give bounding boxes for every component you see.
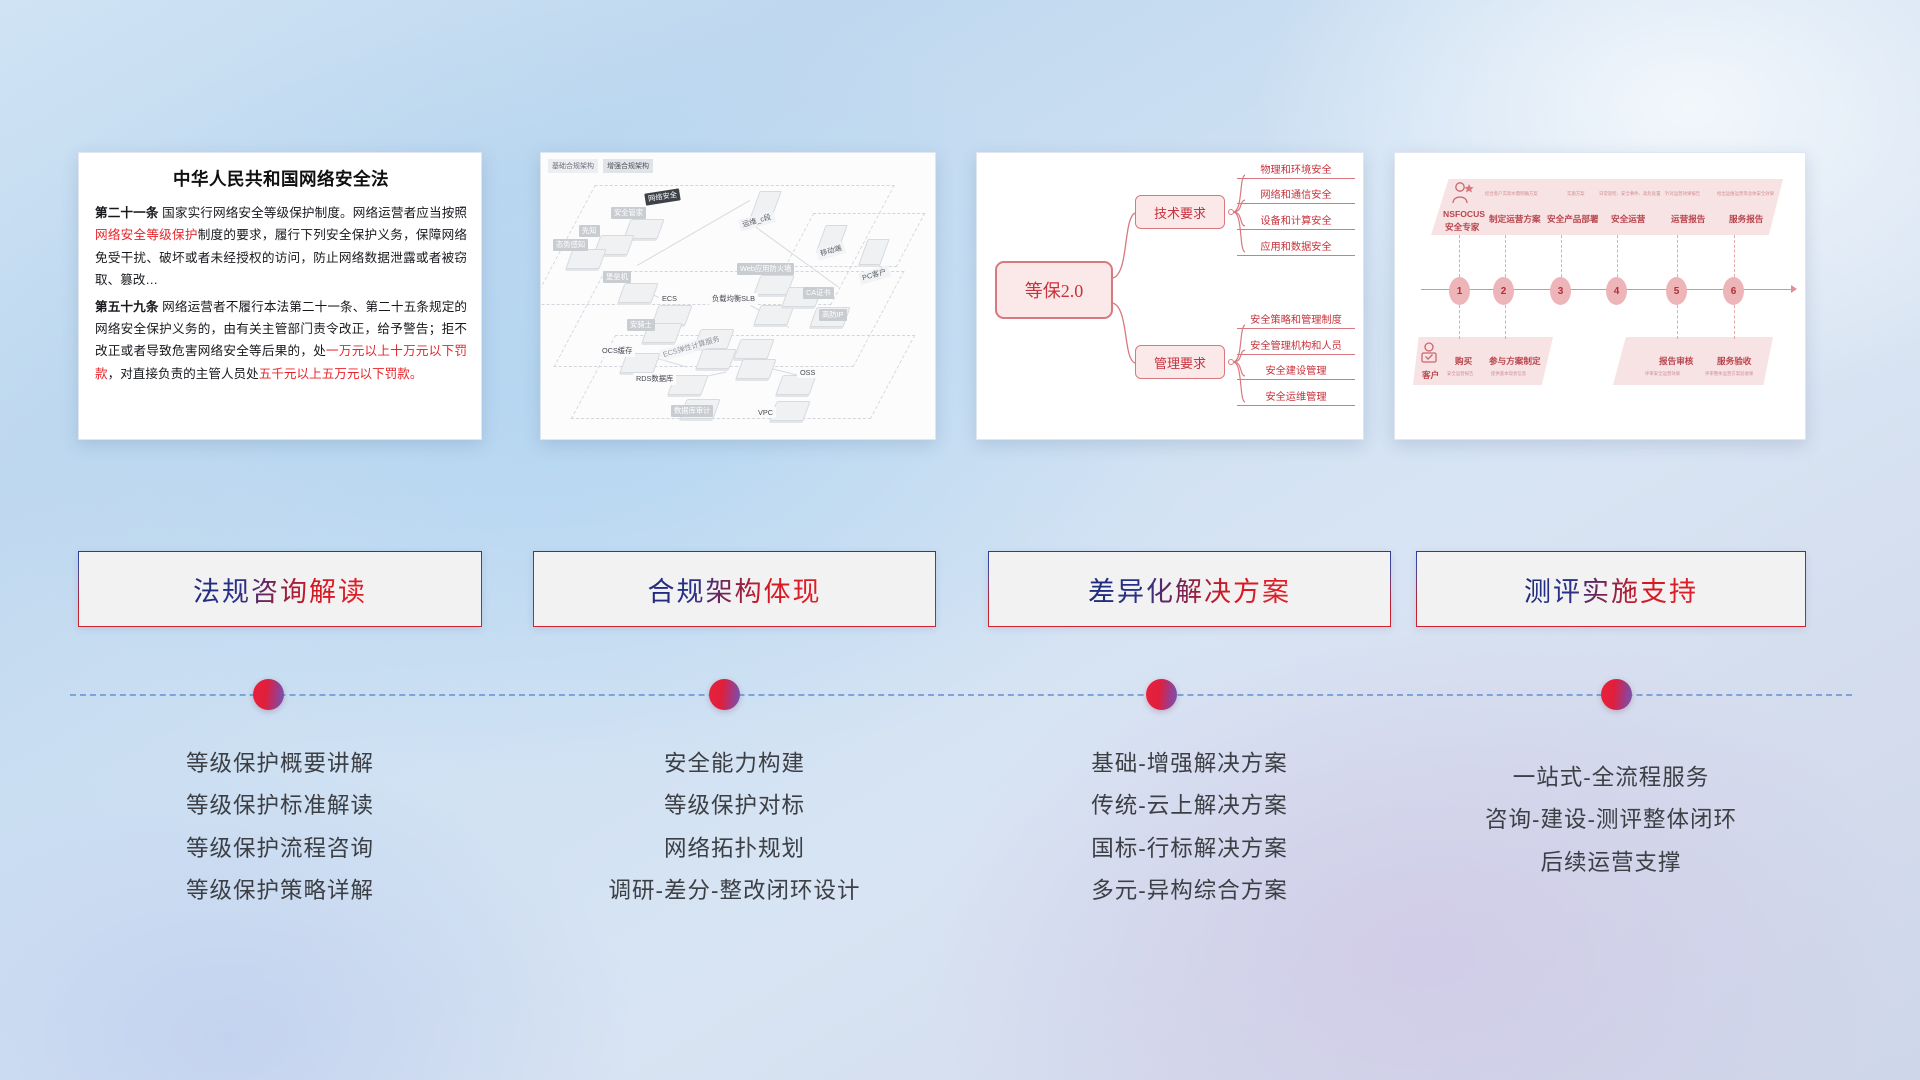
roadmap-step-2: 2 <box>1493 277 1514 305</box>
roadmap-dash-b3 <box>1677 305 1678 339</box>
roadmap-top-sub-5: 给出运维运营等总体安全效果 <box>1717 191 1774 197</box>
list-item: 传统-云上解决方案 <box>988 785 1391 827</box>
arch-label-rds: RDS数据库 <box>633 373 676 385</box>
mindmap-leaf-tech-1: 物理和环境安全 <box>1237 161 1355 179</box>
mindmap-leaf-tech-4: 应用和数据安全 <box>1237 238 1355 256</box>
roadmap-provider-name-1: NSFOCUS <box>1443 209 1485 219</box>
timeline-dot-4[interactable] <box>1601 679 1632 710</box>
roadmap-top-title-1: 制定运营方案 <box>1489 213 1541 225</box>
list-item: 等级保护流程咨询 <box>78 828 482 870</box>
roadmap-dash-1 <box>1459 235 1460 277</box>
mindmap-leaf-mgmt-2: 安全管理机构和人员 <box>1237 337 1355 355</box>
list-item: 多元-异构综合方案 <box>988 870 1391 912</box>
law-run-2-3: ，对直接负责的主管人员处 <box>108 367 259 381</box>
mindmap-branch-management: 管理要求 <box>1135 345 1225 379</box>
roadmap-customer-name: 客户 <box>1422 369 1439 381</box>
roadmap-bot-title-2: 参与方案制定 <box>1489 355 1541 367</box>
arch-label-ocs: OCS缓存 <box>599 345 635 357</box>
arch-label-slb: 负载均衡SLB <box>709 293 758 305</box>
list-item: 网络拓扑规划 <box>533 828 936 870</box>
mindmap-card: 等保2.0 技术要求 管理要求 物理和环境安全 网络和通信安全 设备和计算安全 … <box>976 152 1364 440</box>
list-item: 后续运营支撑 <box>1416 842 1806 884</box>
mindmap-diagram: 等保2.0 技术要求 管理要求 物理和环境安全 网络和通信安全 设备和计算安全 … <box>977 153 1363 439</box>
law-run-1-2: 网络安全等级保护 <box>95 228 198 242</box>
law-paragraph-1: 第二十一条 国家实行网络安全等级保护制度。网络运营者应当按照网络安全等级保护制度… <box>95 202 467 292</box>
roadmap-band-provider <box>1431 179 1783 235</box>
headline-box-2[interactable]: 合规架构体现 <box>533 551 936 627</box>
roadmap-provider-name-2: 安全专家 <box>1445 221 1479 233</box>
roadmap-bot-sub-4: 评审整体运营方案验收果 <box>1705 371 1753 377</box>
headline-box-1[interactable]: 法规咨询解读 <box>78 551 482 627</box>
roadmap-top-title-4: 运营报告 <box>1671 213 1705 225</box>
timeline-dot-2[interactable] <box>709 679 740 710</box>
roadmap-step-1: 1 <box>1449 277 1470 305</box>
architecture-card: 基础合规架构 增强合规架构 <box>540 152 936 440</box>
bullet-column-3: 基础-增强解决方案 传统-云上解决方案 国标-行标解决方案 多元-异构综合方案 <box>988 743 1391 912</box>
list-item: 等级保护标准解读 <box>78 785 482 827</box>
mindmap-leaf-mgmt-3: 安全建设管理 <box>1237 362 1355 380</box>
timeline-dot-3[interactable] <box>1146 679 1177 710</box>
arch-node-oss <box>775 375 816 395</box>
roadmap-dash-5 <box>1677 235 1678 277</box>
arch-node-taishiganzhi <box>565 249 606 269</box>
list-item: 安全能力构建 <box>533 743 936 785</box>
list-item: 国标-行标解决方案 <box>988 828 1391 870</box>
law-run-2-4: 五千元以上五万元以下罚款。 <box>259 367 423 381</box>
roadmap-axis-arrow-icon <box>1791 285 1797 293</box>
bullet-column-2: 安全能力构建 等级保护对标 网络拓扑规划 调研-差分-整改闭环设计 <box>533 743 936 912</box>
law-article-label-1: 第二十一条 <box>95 206 159 220</box>
roadmap-bot-sub-2: 提供基本现状信息 <box>1491 371 1526 377</box>
roadmap-dash-b1 <box>1459 305 1460 339</box>
roadmap-dash-4 <box>1617 235 1618 277</box>
tab-basic-compliance[interactable]: 基础合规架构 <box>548 159 598 173</box>
arch-label-gaofangip: 高防IP <box>819 309 847 321</box>
roadmap-step-6: 6 <box>1723 277 1744 305</box>
law-paragraph-2: 第五十九条 网络运营者不履行本法第二十一条、第二十五条规定的网络安全保护义务的，… <box>95 296 467 386</box>
customer-icon <box>1419 341 1441 367</box>
arch-label-dbaudit: 数据库审计 <box>671 405 713 417</box>
roadmap-step-4: 4 <box>1606 277 1627 305</box>
arch-label-vpc: VPC <box>755 407 776 418</box>
list-item: 等级保护对标 <box>533 785 936 827</box>
arch-label-oss: OSS <box>797 367 818 378</box>
timeline-dashed-line <box>70 694 1852 696</box>
roadmap-dash-3 <box>1561 235 1562 277</box>
arch-label-ca: CA证书 <box>803 287 834 299</box>
roadmap-bot-sub-3: 评审安全运营效果 <box>1645 371 1680 377</box>
headline-box-3[interactable]: 差异化解决方案 <box>988 551 1391 627</box>
arch-label-baoleiji: 堡垒机 <box>603 271 631 283</box>
roadmap-step-5: 5 <box>1666 277 1687 305</box>
mindmap-leaf-mgmt-4: 安全运维管理 <box>1237 388 1355 406</box>
arch-label-xianzhi: 先知 <box>579 225 600 237</box>
arch-label-anqishi: 安骑士 <box>627 319 655 331</box>
arch-node-compute-4 <box>735 359 776 379</box>
list-item: 咨询-建设-测评整体闭环 <box>1416 799 1806 841</box>
roadmap-bot-title-3: 报告审核 <box>1659 355 1693 367</box>
headline-label-1: 法规咨询解读 <box>193 570 367 609</box>
arch-label-anquanguanjia: 安全管家 <box>611 207 646 219</box>
list-item: 等级保护概要讲解 <box>78 743 482 785</box>
arch-node-baoleiji <box>617 283 658 303</box>
roadmap-top-sub-2: 实施方案 <box>1567 191 1585 197</box>
mindmap-leaf-mgmt-1: 安全策略和管理制度 <box>1237 311 1355 329</box>
roadmap-diagram: NSFOCUS 安全专家 结合客户实际水需明确方案 制定运营方案 实施方案 安全… <box>1395 153 1805 439</box>
list-item: 调研-差分-整改闭环设计 <box>533 870 936 912</box>
roadmap-top-sub-3: 日常巡检、安全事件、高危处置 <box>1599 191 1660 197</box>
list-item: 一站式-全流程服务 <box>1416 757 1806 799</box>
law-article-label-2: 第五十九条 <box>95 300 159 314</box>
roadmap-dash-b4 <box>1734 305 1735 339</box>
timeline-dot-1[interactable] <box>253 679 284 710</box>
law-content: 中华人民共和国网络安全法 第二十一条 国家实行网络安全等级保护制度。网络运营者应… <box>79 153 481 397</box>
arch-node-compute-2 <box>695 349 736 369</box>
law-run-1-1: 国家实行网络安全等级保护制度。网络运营者应当按照 <box>159 206 467 220</box>
headline-box-4[interactable]: 测评实施支持 <box>1416 551 1806 627</box>
headline-label-3: 差异化解决方案 <box>1088 570 1291 609</box>
list-item: 等级保护策略详解 <box>78 870 482 912</box>
roadmap-top-title-2: 安全产品部署 <box>1547 213 1599 225</box>
roadmap-step-3: 3 <box>1550 277 1571 305</box>
mindmap-leaf-tech-2: 网络和通信安全 <box>1237 186 1355 204</box>
bullet-column-4: 一站式-全流程服务 咨询-建设-测评整体闭环 后续运营支撑 <box>1416 757 1806 884</box>
headline-label-4: 测评实施支持 <box>1524 570 1698 609</box>
roadmap-dash-6 <box>1734 235 1735 277</box>
roadmap-dash-b2 <box>1505 305 1506 339</box>
mindmap-node-dot-mgmt <box>1228 359 1234 365</box>
arch-label-ecs: ECS <box>659 293 680 304</box>
architecture-diagram: 基础合规架构 增强合规架构 <box>541 153 935 439</box>
law-card: 中华人民共和国网络安全法 第二十一条 国家实行网络安全等级保护制度。网络运营者应… <box>78 152 482 440</box>
roadmap-bot-title-4: 服务验收 <box>1717 355 1751 367</box>
arch-label-taishiganzhi: 态势感知 <box>553 239 588 251</box>
roadmap-top-title-5: 服务报告 <box>1729 213 1763 225</box>
roadmap-dash-2 <box>1505 235 1506 277</box>
arch-label-waf: Web应用防火墙 <box>737 263 794 275</box>
list-item: 基础-增强解决方案 <box>988 743 1391 785</box>
law-title: 中华人民共和国网络安全法 <box>95 166 467 191</box>
arch-node-compute-3 <box>733 339 774 359</box>
mindmap-branch-technical: 技术要求 <box>1135 195 1225 229</box>
headline-label-2: 合规架构体现 <box>648 570 822 609</box>
roadmap-bot-title-1: 购买 <box>1455 355 1472 367</box>
poster-canvas: 中华人民共和国网络安全法 第二十一条 国家实行网络安全等级保护制度。网络运营者应… <box>0 0 1920 1080</box>
bullet-column-1: 等级保护概要讲解 等级保护标准解读 等级保护流程咨询 等级保护策略详解 <box>78 743 482 912</box>
roadmap-card: NSFOCUS 安全专家 结合客户实际水需明确方案 制定运营方案 实施方案 安全… <box>1394 152 1806 440</box>
tab-enhanced-compliance[interactable]: 增强合规架构 <box>603 159 653 173</box>
arch-node-ecs <box>651 305 692 325</box>
mindmap-node-dot-tech <box>1228 209 1234 215</box>
roadmap-top-title-3: 安全运营 <box>1611 213 1645 225</box>
roadmap-bot-sub-1: 安全运营报告 <box>1447 371 1473 377</box>
mindmap-leaf-tech-3: 设备和计算安全 <box>1237 212 1355 230</box>
roadmap-top-sub-4: 针对运营效果报告 <box>1665 191 1700 197</box>
arch-node-slb <box>753 305 794 325</box>
roadmap-top-sub-1: 结合客户实际水需明确方案 <box>1485 191 1538 197</box>
security-expert-icon <box>1449 181 1475 207</box>
architecture-tabs: 基础合规架构 增强合规架构 <box>548 159 653 173</box>
